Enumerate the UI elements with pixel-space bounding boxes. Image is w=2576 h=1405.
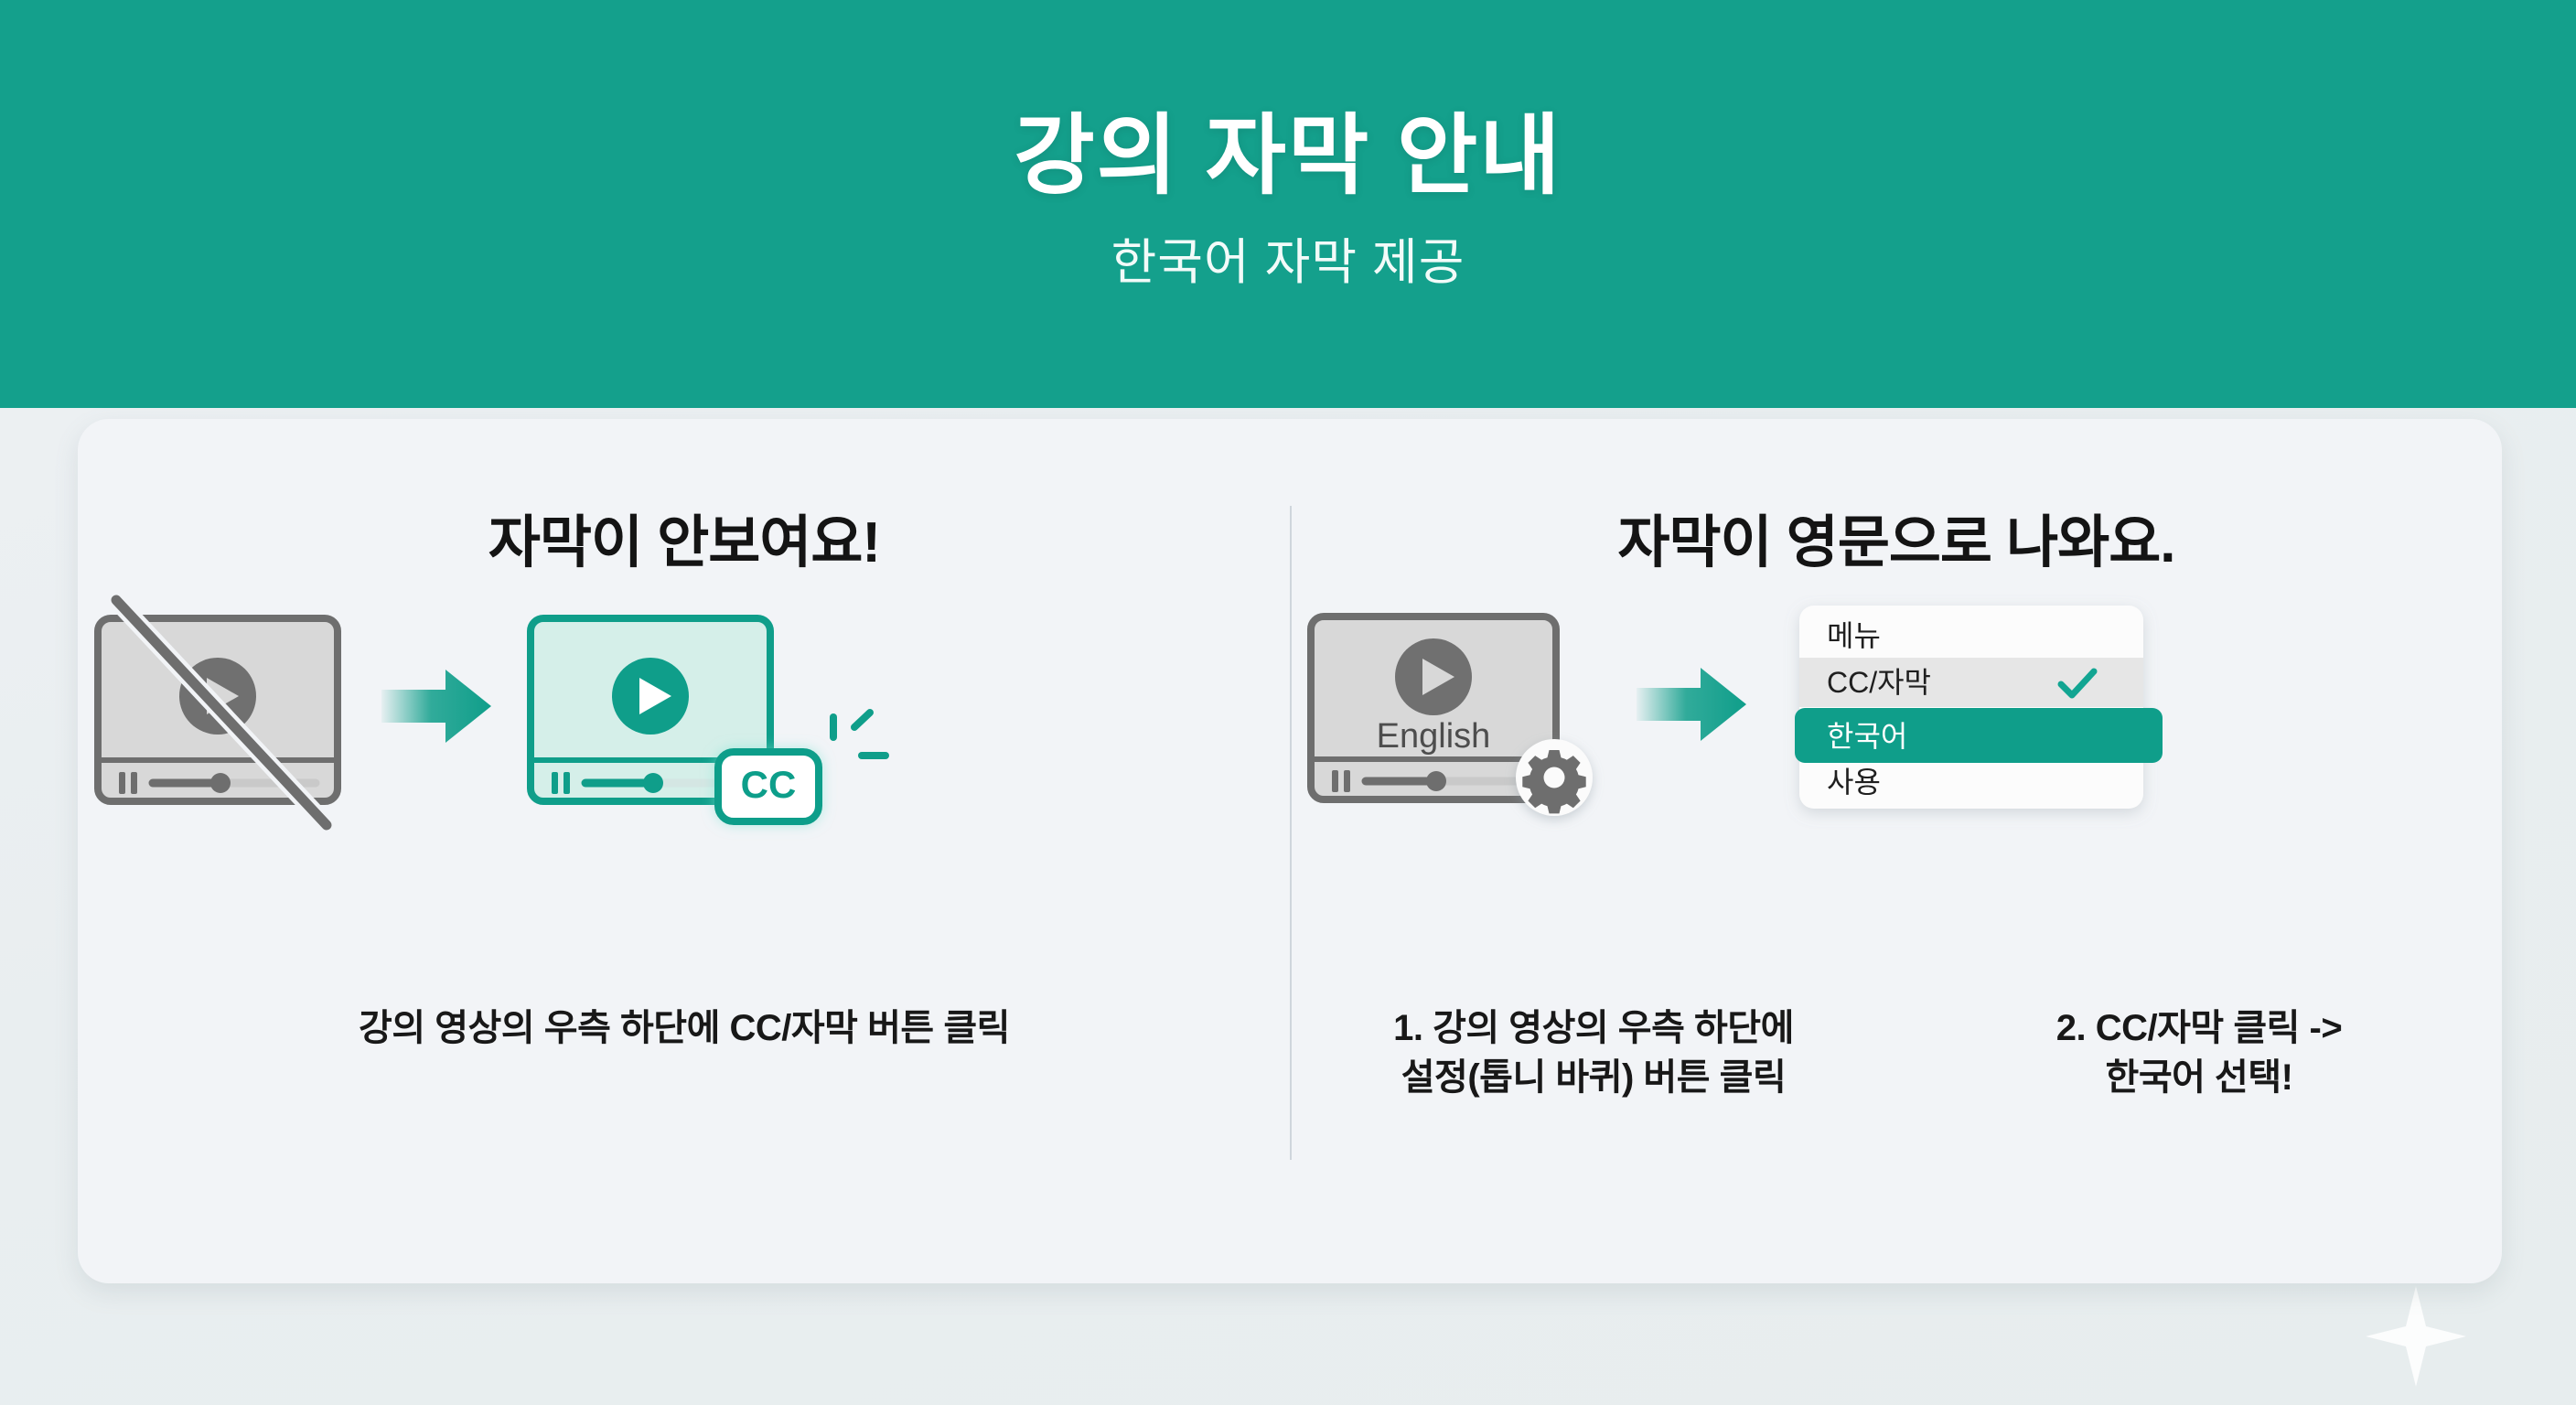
decorative-sparkle-icon [2366, 1286, 2466, 1387]
menu-item-korean: 한국어 [1795, 708, 2163, 763]
right-caption-step-2: 2. CC/자막 클릭 -> 한국어 선택! [1896, 1004, 2502, 1102]
page-background: 강의 자막 안내 한국어 자막 제공 자막이 안보여요! [0, 0, 2576, 1405]
left-panel-caption: 강의 영상의 우측 하단에 CC/자막 버튼 클릭 [78, 1004, 1291, 1053]
panel-subtitles-english: 자막이 영문으로 나와요. [1291, 419, 2502, 1283]
play-icon [612, 658, 689, 735]
right-panel-captions: 1. 강의 영상의 우측 하단에 설정(톱니 바퀴) 버튼 클릭 2. CC/자… [1291, 1004, 2502, 1102]
right-caption-step-1: 1. 강의 영상의 우측 하단에 설정(톱니 바퀴) 버튼 클릭 [1291, 1004, 1896, 1102]
right-panel-illustration: English [1291, 589, 2502, 882]
video-player-english: English [1311, 617, 1593, 816]
content-card: 자막이 안보여요! [78, 419, 2502, 1283]
left-caption-bold: CC/자막 [730, 1008, 858, 1048]
video-player-subtitles-off [98, 600, 338, 825]
gear-icon [1516, 739, 1593, 816]
page-header: 강의 자막 안내 한국어 자막 제공 [0, 0, 2576, 408]
cc-subtitle-badge: CC [718, 752, 819, 821]
right-caption-1-bold: 설정(톱니 바퀴) [1401, 1057, 1634, 1098]
menu-item-label-2: 한국어 [1827, 720, 1907, 753]
menu-item-enable: 사용 [1827, 766, 1881, 799]
right-panel-heading: 자막이 영문으로 나와요. [1291, 496, 2502, 578]
settings-dropdown-menu: 메뉴 CC/자막 [1795, 606, 2163, 809]
right-caption-1-line1: 1. 강의 영상의 우측 하단에 [1291, 1004, 1896, 1054]
page-subtitle: 한국어 자막 제공 [1111, 221, 1465, 294]
arrow-right-icon [1637, 668, 1746, 741]
menu-item-label-0: 메뉴 [1827, 619, 1881, 652]
left-caption-pre: 강의 영상의 우측 하단에 [359, 1008, 729, 1048]
menu-item-label-1: CC/자막 [1827, 666, 1931, 699]
play-icon [1395, 638, 1472, 715]
right-caption-2-rest: 선택! [2205, 1057, 2292, 1098]
left-panel-heading: 자막이 안보여요! [78, 496, 1291, 578]
sparkle-lines-icon [833, 713, 885, 756]
menu-item-label-3: 사용 [1827, 766, 1881, 799]
left-panel-illustration: CC [78, 598, 1291, 873]
arrow-right-icon [381, 670, 491, 743]
right-caption-2-line1: 2. CC/자막 클릭 -> [1896, 1004, 2502, 1054]
menu-item-cc-subtitles: CC/자막 [1799, 658, 2143, 707]
panel-subtitles-missing: 자막이 안보여요! [78, 419, 1291, 1283]
cc-badge-label: CC [741, 763, 797, 806]
video-player-subtitles-on: CC [531, 618, 885, 821]
page-title: 강의 자막 안내 [1014, 107, 1562, 206]
left-caption-post: 버튼 클릭 [858, 1008, 1010, 1048]
menu-item-menu: 메뉴 [1827, 619, 1881, 652]
video-subtitle-text: English [1377, 717, 1491, 756]
right-caption-2-bold: 한국어 [2106, 1057, 2206, 1098]
right-caption-1-rest: 버튼 클릭 [1634, 1057, 1786, 1098]
